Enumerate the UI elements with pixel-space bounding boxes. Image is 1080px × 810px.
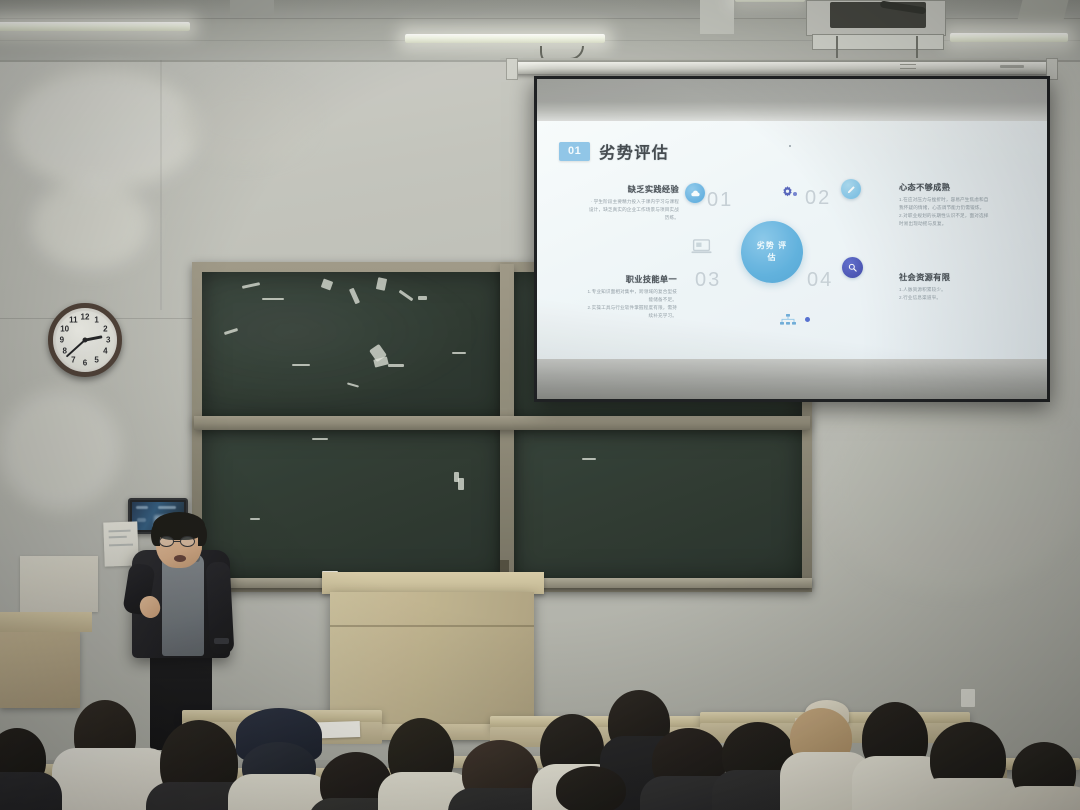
student-16-head bbox=[556, 766, 626, 810]
laptop-icon bbox=[691, 239, 712, 259]
slide-item-04: 社会资源有限 1.人脉资源积累较少。 2.行业信息渠道窄。 bbox=[899, 271, 991, 302]
ceiling-light-1 bbox=[0, 22, 190, 31]
slide-number-04: 04 bbox=[807, 269, 833, 292]
slide-number-badge: 01 bbox=[559, 142, 590, 161]
slide-item-01-body: · 学生阶段主要精力投入于课内学习与课程设计，缺乏真实的企业工作场景与项目实战历… bbox=[587, 198, 679, 222]
presenter-glasses-right bbox=[180, 536, 195, 547]
ceiling-light-3 bbox=[950, 33, 1068, 42]
slide-item-03-body: 1.专业知识面相对集中，跨领域的复合型技能储备不足。 2.实操工具与行业软件掌握… bbox=[585, 288, 677, 320]
student-15-body bbox=[1000, 786, 1080, 810]
chalkboard-panel-upper-left bbox=[202, 272, 502, 420]
slide-item-01-heading: 缺乏实践经验 bbox=[587, 183, 679, 195]
slide-item-02-heading: 心态不够成熟 bbox=[899, 181, 991, 193]
slide-center-label-line1: 劣势 评 bbox=[757, 240, 787, 252]
ceiling-access-panel bbox=[812, 34, 944, 50]
presenter-glasses-bridge bbox=[173, 541, 181, 542]
search-icon bbox=[842, 257, 863, 278]
slide-item-02: 心态不够成熟 1.在应对压力与挫折时，容易产生焦虑和自我怀疑的情绪，心态调节能力… bbox=[899, 181, 991, 228]
cloud-icon bbox=[685, 183, 705, 203]
gear-icon bbox=[781, 185, 794, 203]
ceiling-light-4 bbox=[735, 0, 805, 2]
screen-roller-bar bbox=[512, 62, 1052, 74]
slide-item-03-heading: 职业技能单一 bbox=[585, 273, 677, 285]
presenter-glasses-left bbox=[159, 536, 174, 547]
clock-center bbox=[83, 338, 88, 343]
wall-clock: 12 1 2 3 4 5 6 7 8 9 10 11 bbox=[48, 303, 122, 377]
slide-number-03: 03 bbox=[695, 269, 721, 292]
network-icon bbox=[780, 313, 796, 331]
student-14-body bbox=[0, 772, 62, 810]
slide-center-circle: 劣势 评 估 bbox=[741, 221, 803, 283]
slide-item-04-heading: 社会资源有限 bbox=[899, 271, 991, 283]
slide-number-01: 01 bbox=[707, 189, 733, 212]
projection-screen-frame: 01 劣势评估 缺乏实践经验 · 学生阶段主要精力投入于课内学习与课程设计，缺乏… bbox=[534, 76, 1050, 402]
ceiling-light-2 bbox=[405, 34, 605, 43]
pen-icon bbox=[841, 179, 861, 199]
classroom-photo: 12 1 2 3 4 5 6 7 8 9 10 11 bbox=[0, 0, 1080, 810]
roller-bracket-left bbox=[506, 58, 518, 80]
slide-item-01: 缺乏实践经验 · 学生阶段主要精力投入于课内学习与课程设计，缺乏真实的企业工作场… bbox=[587, 183, 679, 222]
projection-screen-surface[interactable]: 01 劣势评估 缺乏实践经验 · 学生阶段主要精力投入于课内学习与课程设计，缺乏… bbox=[537, 79, 1047, 399]
slide-center-label-line2: 估 bbox=[757, 252, 787, 264]
slide-number-02: 02 bbox=[805, 187, 831, 210]
clock-face: 12 1 2 3 4 5 6 7 8 9 10 11 bbox=[56, 311, 114, 369]
slide-title: 劣势评估 bbox=[599, 139, 669, 163]
presenter-shirt bbox=[162, 554, 204, 656]
slide-item-04-body: 1.人脉资源积累较少。 2.行业信息渠道窄。 bbox=[899, 286, 991, 302]
slide-content[interactable]: 01 劣势评估 缺乏实践经验 · 学生阶段主要精力投入于课内学习与课程设计，缺乏… bbox=[537, 121, 1047, 359]
chalkboard-panel-lower-right bbox=[512, 428, 802, 580]
slide-center-label: 劣势 评 估 bbox=[757, 240, 787, 263]
slide-item-02-body: 1.在应对压力与挫折时，容易产生焦虑和自我怀疑的情绪，心态调节能力仍需锻炼。 2… bbox=[899, 196, 991, 228]
lectern-top bbox=[322, 572, 544, 594]
slide-title-row: 01 劣势评估 bbox=[559, 139, 669, 163]
slide-item-03: 职业技能单一 1.专业知识面相对集中，跨领域的复合型技能储备不足。 2.实操工具… bbox=[585, 273, 677, 320]
